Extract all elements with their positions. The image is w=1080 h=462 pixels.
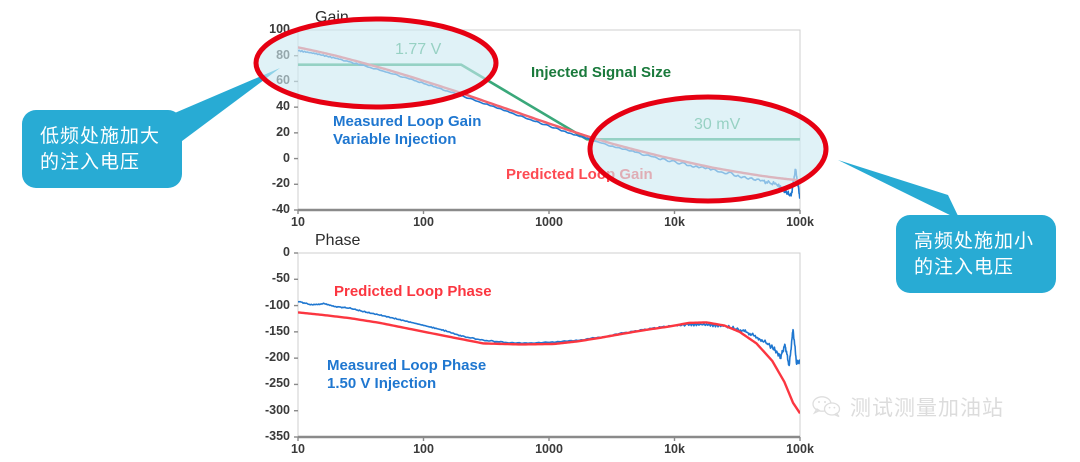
watermark: 测试测量加油站 [812, 392, 1004, 422]
slide-canvas: 10100100010k100k-40-20020406080100Gain10… [0, 0, 1080, 462]
callout-high-freq-line2: 的注入电压 [914, 257, 1014, 278]
callout-tail-high-freq [838, 160, 960, 220]
wechat-icon [812, 395, 842, 419]
highlight-ellipse-low-freq [256, 19, 496, 107]
callout-high-freq[interactable]: 高频处施加小 的注入电压 [896, 215, 1056, 293]
callout-low-freq-line1: 低频处施加大 [40, 126, 160, 147]
highlight-ellipse-high-freq [590, 97, 826, 201]
callout-low-freq-line2: 的注入电压 [40, 152, 140, 173]
callout-low-freq[interactable]: 低频处施加大 的注入电压 [22, 110, 182, 188]
watermark-text: 测试测量加油站 [850, 392, 1004, 422]
callout-high-freq-line1: 高频处施加小 [914, 231, 1034, 252]
